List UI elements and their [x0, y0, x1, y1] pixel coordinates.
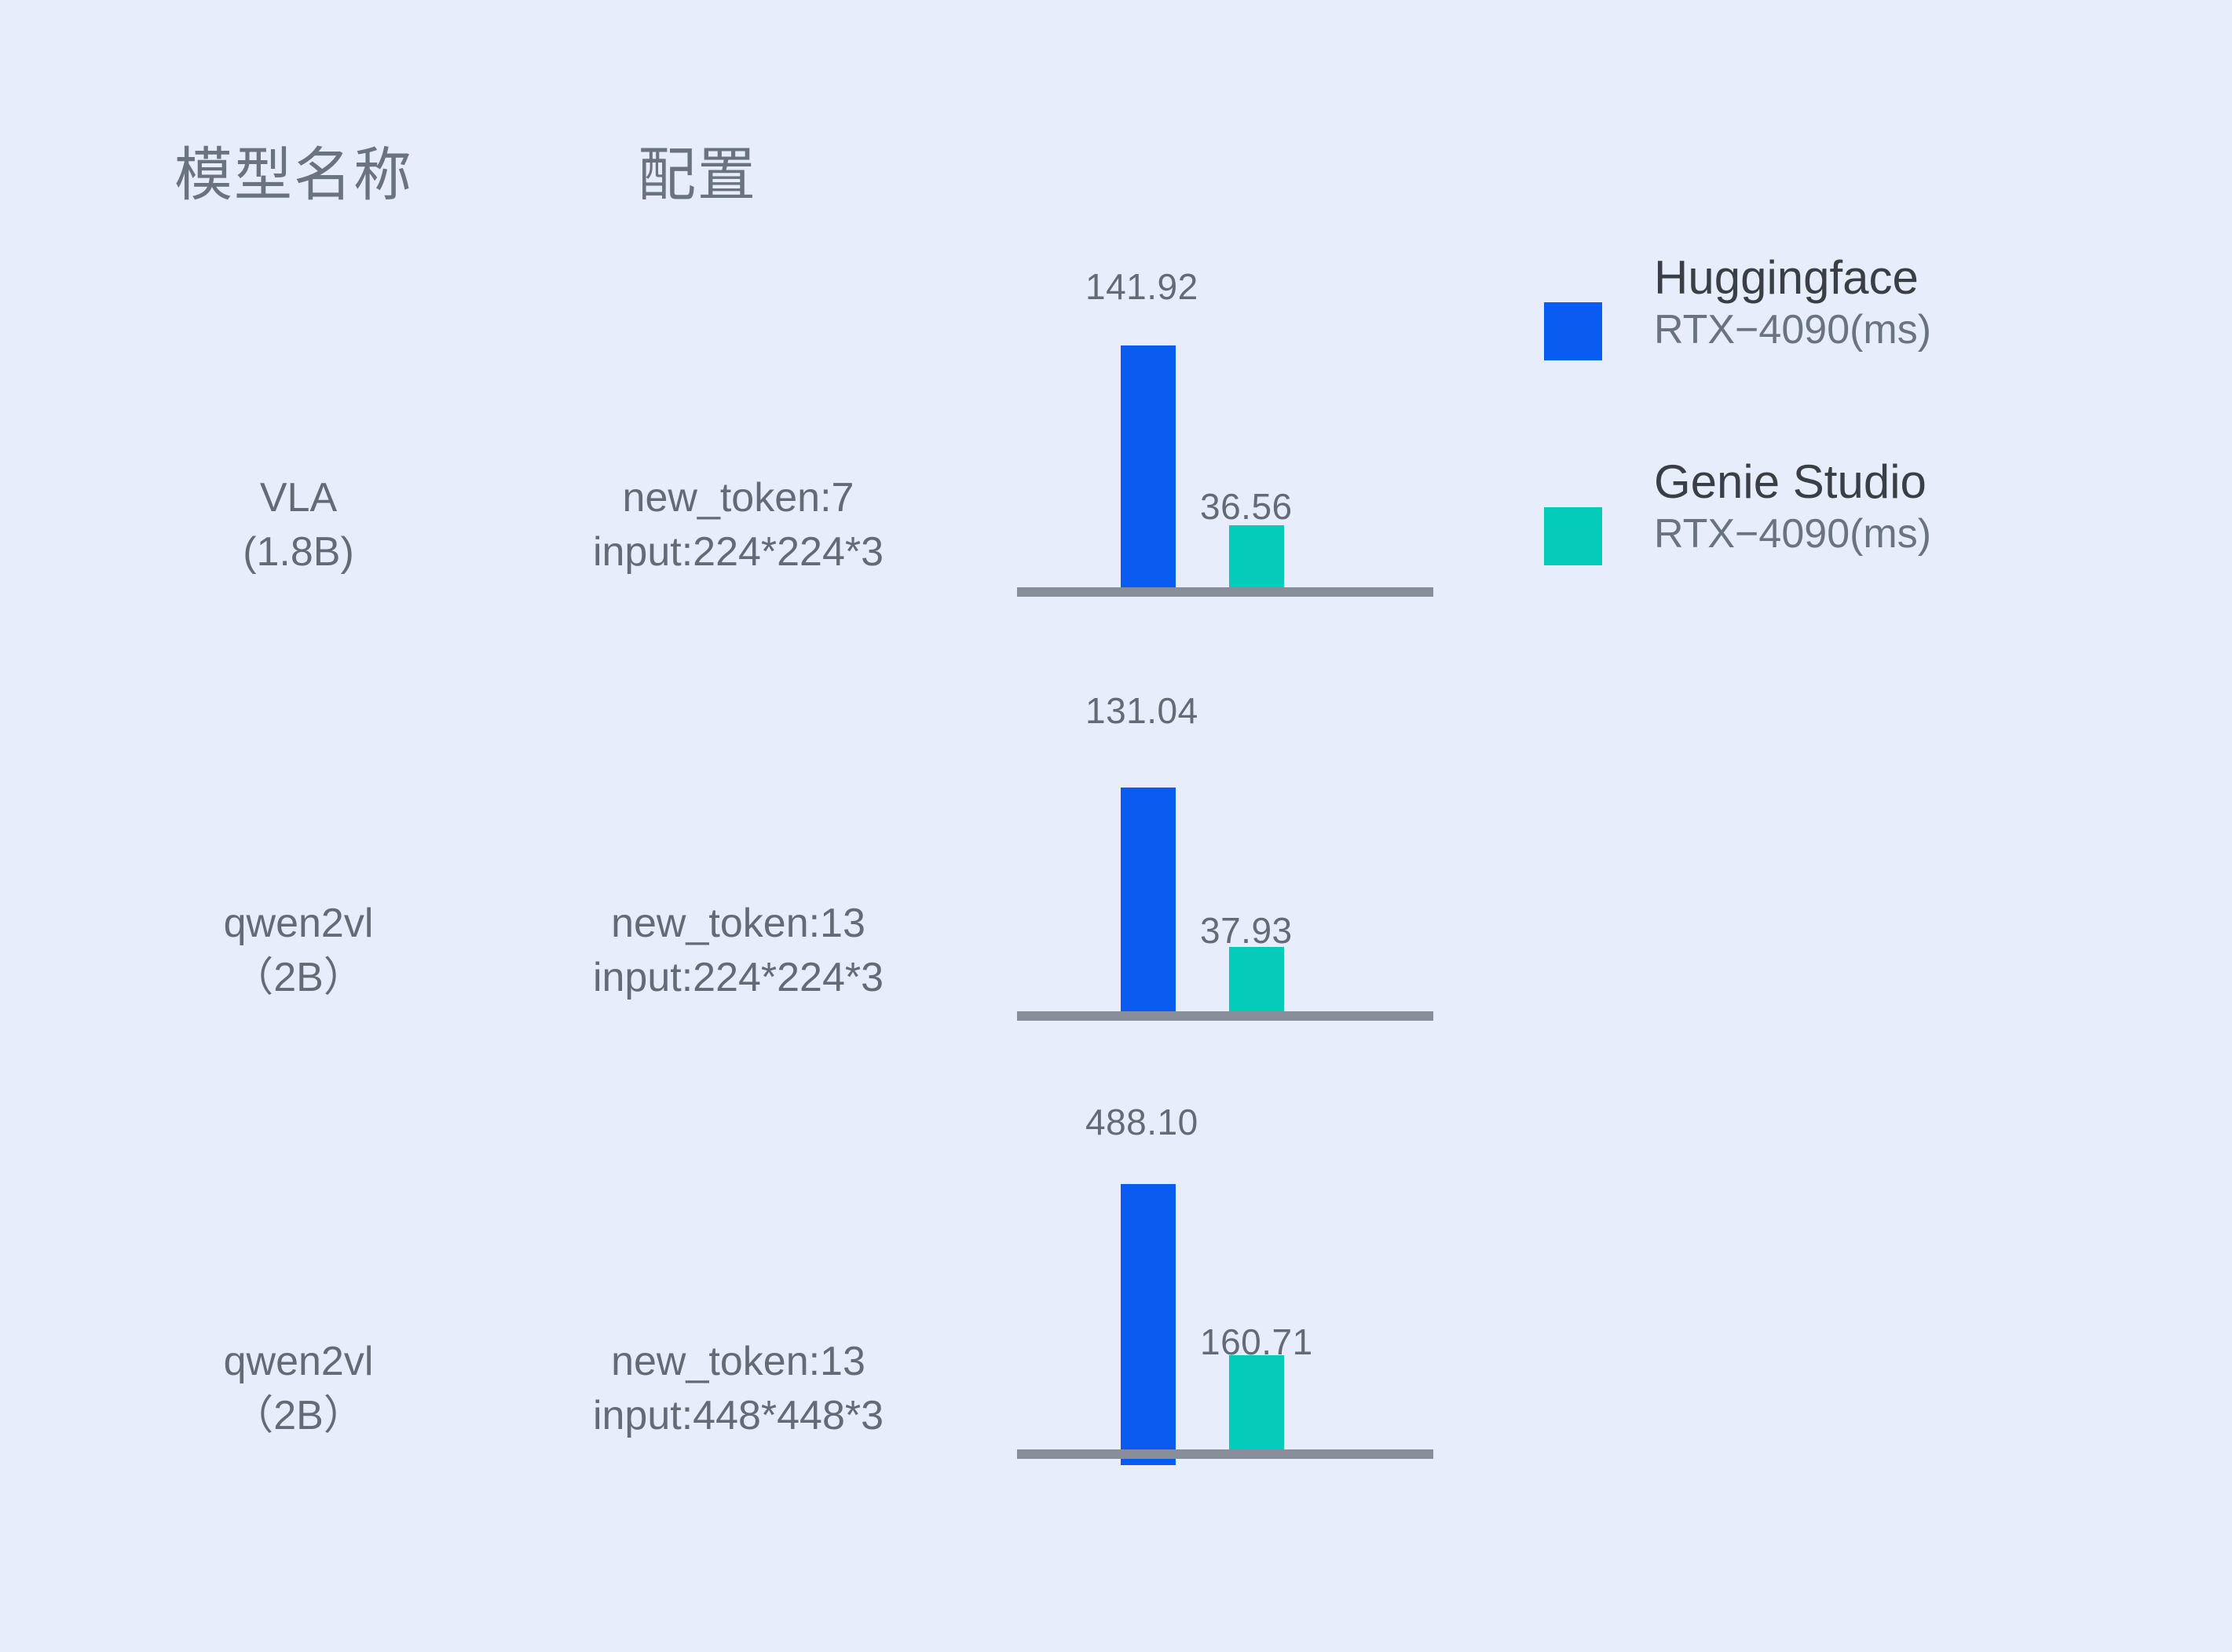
legend-subtitle-huggingface: RTX−4090(ms) [1654, 304, 2078, 357]
row-config-label: new_token:13 input:448*448*3 [487, 1335, 990, 1442]
row-config-label: new_token:13 input:224*224*3 [487, 897, 990, 1004]
row-baseline [1017, 587, 1433, 597]
bar-genie-studio[interactable] [1229, 1355, 1284, 1449]
chart-row: 141.92 36.56 [1013, 345, 1441, 597]
bar-value-huggingface: 488.10 [1085, 1101, 1198, 1143]
plot-area: 141.92 36.56 [1013, 345, 1441, 597]
chart-legend: Huggingface RTX−4090(ms) Genie Studio RT… [1544, 236, 2094, 644]
row-model-label: qwen2vl （2B） [126, 897, 471, 1004]
row-baseline [1017, 1449, 1433, 1459]
legend-item-huggingface[interactable]: Huggingface RTX−4090(ms) [1544, 236, 2094, 440]
chart-row: 488.10 160.71 [1013, 1186, 1441, 1459]
row-baseline [1017, 1011, 1433, 1021]
column-header-config: 配置 [638, 128, 757, 212]
bar-value-huggingface: 141.92 [1085, 265, 1198, 308]
bar-value-genie-studio: 36.56 [1200, 485, 1293, 528]
legend-swatch-icon-genie-studio [1544, 507, 1602, 565]
row-config-label: new_token:7 input:224*224*3 [487, 471, 990, 579]
bar-huggingface[interactable] [1121, 345, 1176, 587]
bar-huggingface[interactable] [1121, 788, 1176, 1011]
legend-title-huggingface: Huggingface [1654, 251, 2078, 304]
legend-swatch-icon-huggingface [1544, 302, 1602, 360]
bar-value-genie-studio: 37.93 [1200, 909, 1293, 952]
bar-value-huggingface: 131.04 [1085, 689, 1198, 732]
chart-row: 131.04 37.93 [1013, 769, 1441, 1021]
row-model-label: VLA (1.8B) [126, 471, 471, 579]
legend-subtitle-genie-studio: RTX−4090(ms) [1654, 508, 2078, 561]
column-header-model-name: 模型名称 [174, 128, 413, 212]
bar-huggingface[interactable] [1121, 1184, 1176, 1465]
plot-area: 131.04 37.93 [1013, 769, 1441, 1021]
legend-title-genie-studio: Genie Studio [1654, 455, 2078, 508]
bar-genie-studio[interactable] [1229, 525, 1284, 587]
bar-genie-studio[interactable] [1229, 947, 1284, 1011]
row-model-label: qwen2vl （2B） [126, 1335, 471, 1442]
legend-item-genie-studio[interactable]: Genie Studio RTX−4090(ms) [1544, 440, 2094, 644]
plot-area: 488.10 160.71 [1013, 1186, 1441, 1459]
chart-canvas: 模型名称 配置 VLA (1.8B) new_token:7 input:224… [0, 0, 2232, 1652]
